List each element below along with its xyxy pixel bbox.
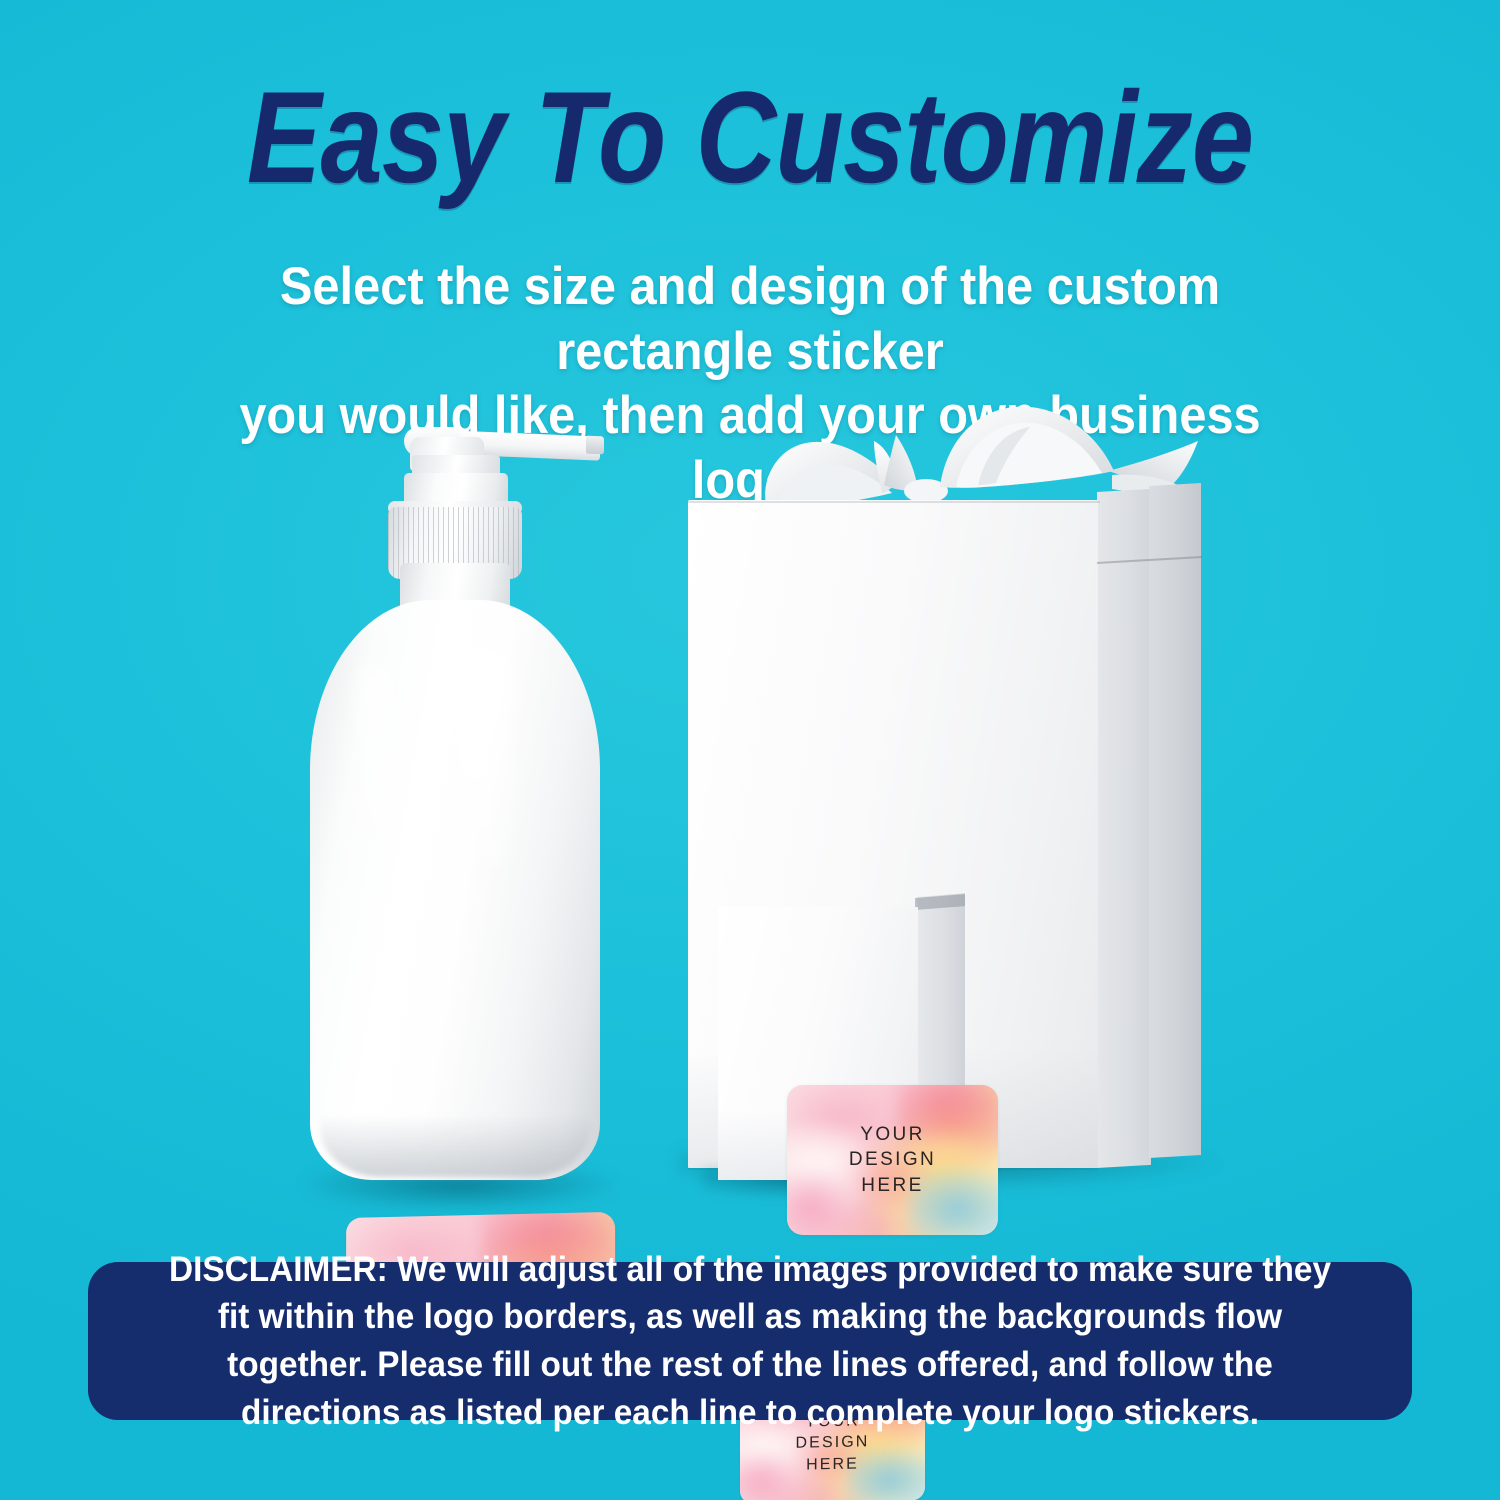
- pump-spout-tip: [586, 436, 604, 455]
- sticker-line-3: HERE: [806, 1453, 859, 1475]
- sticker-line-3: HERE: [861, 1173, 923, 1198]
- gift-box-lid-seam: [688, 501, 1100, 503]
- sticker-line-2: DESIGN: [849, 1147, 936, 1172]
- disclaimer-text: DISCLAIMER: We will adjust all of the im…: [162, 1246, 1339, 1436]
- sticker-line-1: YOUR: [860, 1122, 925, 1147]
- sticker-on-gift-box[interactable]: YOUR DESIGN HERE: [787, 1085, 998, 1235]
- disclaimer-label: DISCLAIMER:: [169, 1249, 388, 1289]
- bottle-highlight-primary: [450, 645, 512, 885]
- page-title: Easy To Customize: [105, 72, 1395, 202]
- gift-box-side-panel: [1097, 489, 1151, 1168]
- product-mockup-scene: YOUR DESIGN HERE YOUR DESIGN HERE YOUR: [0, 395, 1500, 1245]
- pump-bottle: [300, 415, 630, 1225]
- bottle-base-shading: [320, 1115, 590, 1177]
- subtitle-line-1: Select the size and design of the custom…: [175, 255, 1325, 384]
- disclaimer-banner: DISCLAIMER: We will adjust all of the im…: [88, 1262, 1412, 1420]
- bottle-highlight-secondary: [360, 665, 394, 965]
- sticker-text-block: YOUR DESIGN HERE: [787, 1085, 998, 1235]
- gift-box-back-panel: [1149, 483, 1201, 1158]
